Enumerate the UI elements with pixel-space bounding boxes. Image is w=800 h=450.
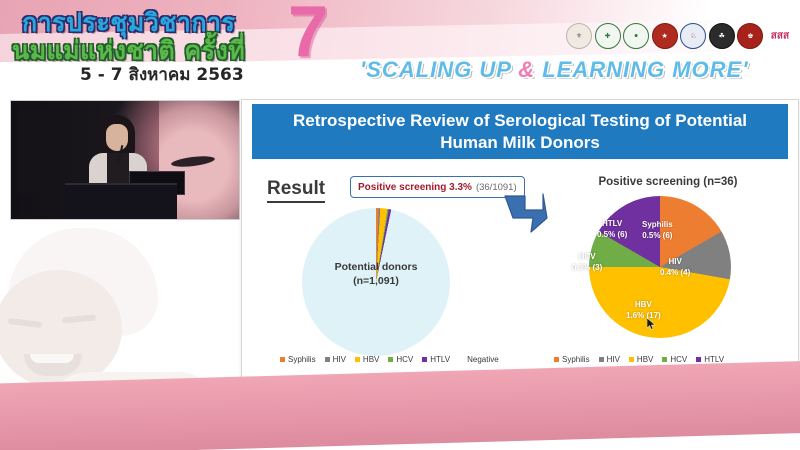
baby-eye-shape	[171, 154, 216, 168]
legend-swatch-hcv	[388, 357, 393, 362]
legend-swatch-hbv	[355, 357, 360, 362]
sponsor-logo-icon: ✚	[595, 23, 621, 49]
legend-item: HCV	[388, 355, 413, 364]
tagline-part1: 'SCALING UP	[360, 57, 518, 82]
conference-banner: การประชุมวิชาการ นมแม่แห่งชาติ ครั้งที่ …	[0, 0, 800, 96]
sponsor-logos: ⚜ ✚ ● ★ ♘ ☘ ♚ สสส	[566, 19, 794, 53]
legend-item: HIV	[325, 355, 346, 364]
speaker-video-panel[interactable]	[10, 100, 240, 220]
legend-label: HBV	[363, 355, 379, 364]
slice-label-syphilis-name: Syphilis	[642, 220, 673, 231]
legend-swatch-syphilis	[280, 357, 285, 362]
legend-item: HBV	[629, 355, 653, 364]
sponsor-logo-icon: ♚	[737, 23, 763, 49]
slice-label-syphilis-value: 0.5% (6)	[642, 231, 673, 242]
callout-secondary-text: (36/1091)	[476, 182, 517, 193]
podium-shape	[65, 183, 177, 220]
slice-label-syphilis: Syphilis 0.5% (6)	[642, 220, 673, 242]
slice-label-hcv-value: 0.3% (3)	[572, 263, 602, 274]
legend-item: HCV	[662, 355, 687, 364]
callout-primary-text: Positive screening 3.3%	[358, 182, 472, 193]
pie-right-title: Positive screening (n=36)	[558, 176, 778, 188]
tagline-part2: LEARNING MORE'	[535, 57, 748, 82]
legend-item: HIV	[599, 355, 620, 364]
legend-item: HBV	[355, 355, 379, 364]
pie-left-subtitle: (n=1,091)	[302, 274, 450, 288]
slice-label-hiv-value: 0.4% (4)	[660, 268, 690, 279]
pie-left-title: Potential donors	[302, 260, 450, 274]
conference-edition-number: 7	[288, 0, 328, 68]
legend-label: HTLV	[430, 355, 450, 364]
positive-screening-callout: Positive screening 3.3% (36/1091)	[350, 176, 525, 198]
slice-label-htlv-name: HTLV	[597, 219, 627, 230]
legend-swatch-hbv	[629, 357, 634, 362]
slide-title: Retrospective Review of Serological Test…	[252, 104, 788, 159]
slice-label-hcv: HCV 0.3% (3)	[572, 252, 602, 274]
conference-date: 5 - 7 สิงหาคม 2563	[80, 61, 244, 88]
sponsor-logo-icon: สสส	[766, 25, 794, 47]
result-heading: Result	[267, 178, 325, 203]
legend-label: HCV	[396, 355, 413, 364]
legend-right: Syphilis HIV HBV HCV HTLV	[554, 355, 724, 364]
sponsor-logo-icon: ⚜	[566, 23, 592, 49]
legend-swatch-hcv	[662, 357, 667, 362]
legend-swatch-htlv	[696, 357, 701, 362]
legend-label: HIV	[607, 355, 620, 364]
legend-label: Syphilis	[288, 355, 316, 364]
legend-item: Syphilis	[554, 355, 590, 364]
legend-label: HIV	[333, 355, 346, 364]
legend-swatch-hiv	[599, 357, 604, 362]
transition-arrow-icon	[503, 192, 549, 236]
legend-label: Syphilis	[562, 355, 590, 364]
sponsor-logo-icon: ★	[652, 23, 678, 49]
pie-left-center-label: Potential donors (n=1,091)	[302, 260, 450, 288]
legend-item: Negative	[459, 355, 499, 364]
slice-label-hiv: HIV 0.4% (4)	[660, 257, 690, 279]
legend-label: Negative	[467, 355, 499, 364]
slide-content: Retrospective Review of Serological Test…	[241, 99, 799, 406]
slice-label-hbv-name: HBV	[626, 300, 661, 311]
sponsor-logo-icon: ●	[623, 23, 649, 49]
slice-label-hiv-name: HIV	[660, 257, 690, 268]
legend-item: Syphilis	[280, 355, 316, 364]
mouse-cursor-icon	[647, 318, 656, 330]
video-dark-screen	[17, 107, 61, 193]
conference-tagline: 'SCALING UP & LEARNING MORE'	[360, 57, 748, 83]
legend-swatch-htlv	[422, 357, 427, 362]
legend-item: HTLV	[422, 355, 450, 364]
legend-left: Syphilis HIV HBV HCV HTLV Negative	[280, 355, 499, 364]
presentation-screen: การประชุมวิชาการ นมแม่แห่งชาติ ครั้งที่ …	[0, 0, 800, 450]
tagline-ampersand: &	[518, 57, 535, 82]
legend-swatch-syphilis	[554, 357, 559, 362]
legend-label: HCV	[670, 355, 687, 364]
sponsor-logo-icon: ☘	[709, 23, 735, 49]
slice-label-htlv-value: 0.5% (6)	[597, 230, 627, 241]
speaker-face	[106, 124, 128, 151]
legend-swatch-hiv	[325, 357, 330, 362]
legend-label: HBV	[637, 355, 653, 364]
slice-label-hcv-name: HCV	[572, 252, 602, 263]
legend-swatch-negative	[459, 357, 464, 362]
sponsor-logo-icon: ♘	[680, 23, 706, 49]
slice-label-htlv: HTLV 0.5% (6)	[597, 219, 627, 241]
